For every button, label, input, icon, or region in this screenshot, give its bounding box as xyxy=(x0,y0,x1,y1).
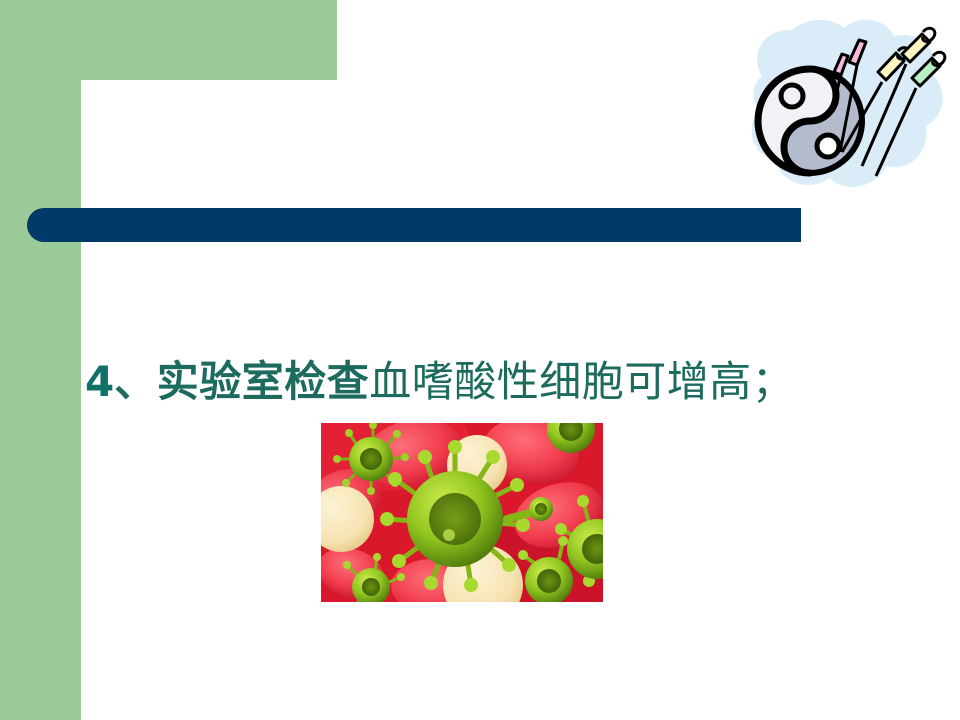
green-top-band xyxy=(0,0,337,80)
green-left-band xyxy=(0,0,81,720)
slide-canvas: 4、实验室检查血嗜酸性细胞可增高； xyxy=(0,0,960,720)
item-heading: 实验室检查 xyxy=(157,357,370,406)
item-separator: 、 xyxy=(114,357,157,406)
item-detail: 血嗜酸性细胞可增高； xyxy=(369,357,794,406)
body-text-line: 4、实验室检查血嗜酸性细胞可增高； xyxy=(85,361,905,403)
navy-title-bar xyxy=(27,208,801,242)
yin-yang-acupuncture-icon xyxy=(726,6,960,211)
virus-blood-cells-image xyxy=(321,423,603,602)
item-number: 4 xyxy=(85,357,114,406)
